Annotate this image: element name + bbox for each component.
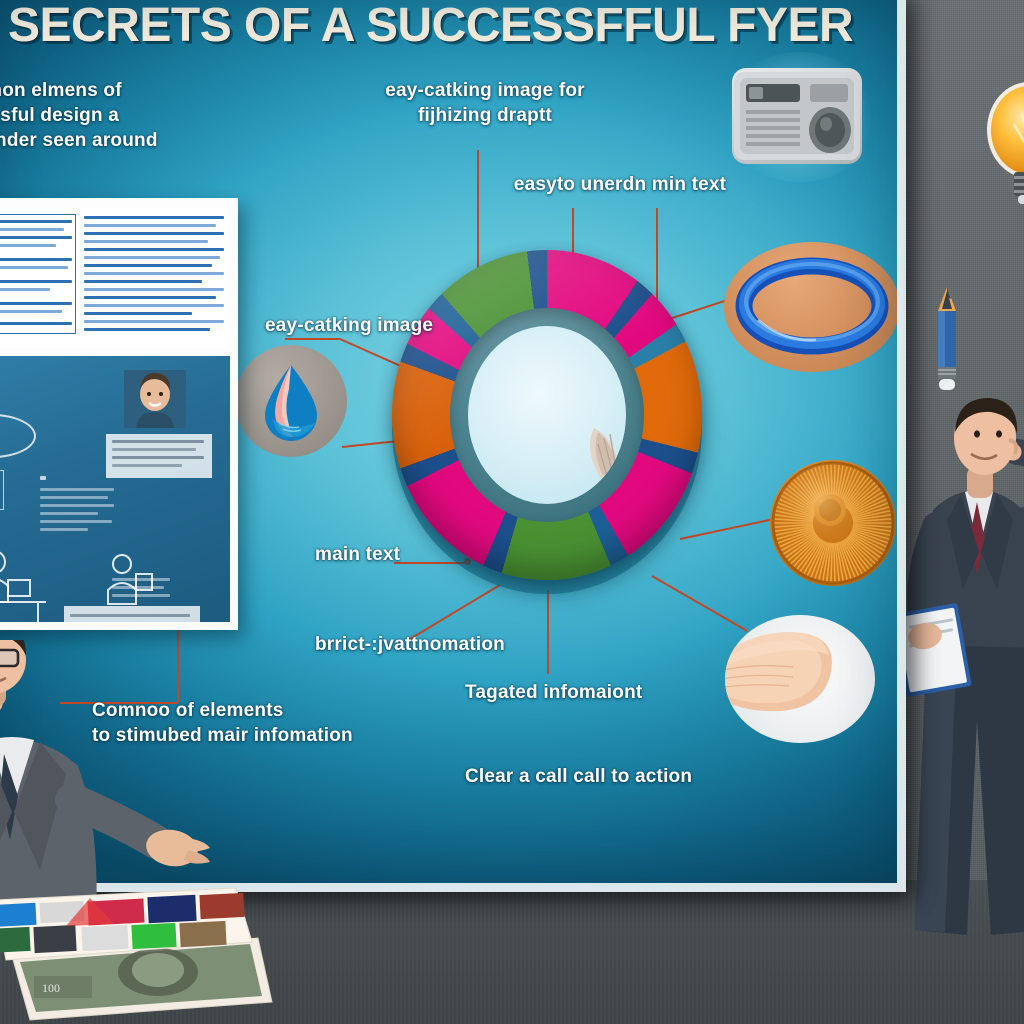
amber-disc-icon[interactable] [770,460,896,586]
flyer-small-icon-box [0,470,4,510]
droplet-icon[interactable] [235,345,347,457]
connector-mid-left [285,338,340,340]
flyer-bottom-card [64,606,200,622]
flyer-graphic-block: ore [0,356,230,622]
annotation-mid-left: eay-catking image [265,313,475,338]
annotation-brief-info: brrict-:jvattnomation [315,632,575,657]
flyer-headshot-avatar [124,370,186,428]
hummingbird-icon [554,418,626,504]
flyer-logo-oval [0,414,36,458]
person-seated-left [0,640,220,920]
lightbulb-icon [984,78,1024,208]
pencil-icon [930,285,964,393]
flyer-text-block-top [0,208,230,348]
donut-hole [468,326,626,504]
annotation-call-to-action: Clear a call call to action [465,764,765,789]
page-title: SECRETS OF A SUCCESSFFUL FYER [8,0,798,54]
fingertip-icon[interactable] [725,615,875,743]
annotation-top-right-text: easyto unerdn min text [480,172,760,197]
annotation-main-text: main text [315,542,455,567]
annotation-top-center: eay-catking image for fijhizing draptt [355,78,615,128]
flyer-caption-card [106,434,212,478]
person-standing-right [905,390,1024,950]
blue-ring-icon[interactable] [724,242,900,372]
scattered-flyers[interactable]: 100 [0,880,320,1024]
svg-text:100: 100 [42,981,60,995]
flyer-lineart-desk [0,544,54,622]
sample-flyer-poster[interactable]: ore [0,198,238,630]
annotation-targeted-info: Tagated infomaiont [465,680,705,705]
radio-icon [732,68,862,164]
annotation-top-left: mmon elmens of ccesful design a leynder … [0,78,208,153]
flyer-col-left-box [0,214,76,334]
scene-root: SECRETS OF A SUCCESSFFUL FYER [0,0,1024,1024]
